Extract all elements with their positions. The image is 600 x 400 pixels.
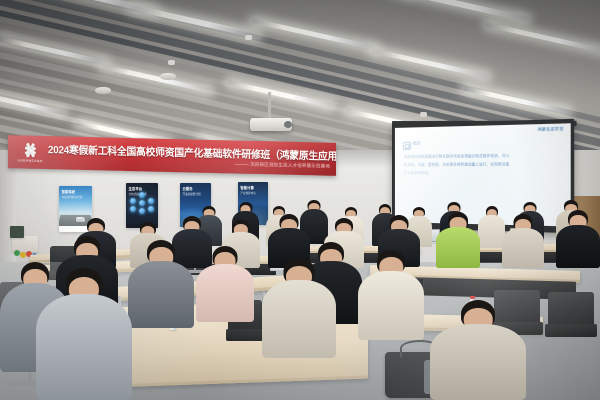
person-torso [478,215,505,248]
classroom-photo: 天府软件园实训基地 2024寒假新工科全国高校师资国产化基础软件研修班（鸿蒙原生… [0,0,600,400]
person-torso [196,264,254,322]
ceiling-led-strip [371,48,489,79]
left-wall [0,150,16,280]
ceiling-led-strip [485,22,600,54]
slide-line: 鸿蒙操作系统是面向万物互联时代的全场景分布式操作系统，可以 [404,153,510,159]
network-hex-icon [130,192,154,214]
ceiling-speaker-icon [95,87,111,94]
person-torso [36,294,132,400]
person [128,240,194,328]
ceiling-speaker-icon [160,73,176,80]
person-torso [556,225,600,268]
slide-bullet-icon [403,142,411,150]
person [358,250,424,340]
poster-line: 车路协同解决方案 [62,195,83,199]
person-torso [128,261,194,328]
person [502,214,544,268]
person [478,206,505,248]
slide-heading: 概述 [413,141,421,146]
ceiling-sensor-icon [420,112,427,117]
person-torso [358,271,424,340]
poster-title: 智能驾驶 [62,189,76,194]
poster-line: 产业创新中心 [240,191,256,195]
ceiling-sensor-icon [168,60,175,65]
person-torso [430,324,526,400]
slide-line: 的无缝协同体验。 [404,170,432,175]
ceiling-led-strip [251,18,377,51]
banner-emblem-icon: 天府软件园实训基地 [18,140,42,165]
chair[interactable] [548,292,594,350]
person [36,268,132,400]
projector-mount-pole [268,92,271,120]
wall-panel [10,226,24,238]
poster-line: 开发者赋能计划 [182,192,200,196]
slide-line: 在手机、平板、智慧屏、车机等多种终端设备上运行，实现跨设备 [404,161,510,167]
person [430,300,526,400]
poster-title: 云服务 [182,186,192,191]
person-torso [502,228,544,268]
banner-logo-caption: 天府软件园实训基地 [17,158,42,163]
person [196,246,254,322]
person-torso [436,227,480,268]
person-torso [262,280,336,358]
projector-lens-icon [284,121,292,128]
person [556,210,600,268]
ceiling-sensor-icon [245,35,252,40]
slide-brand-label: 鸿蒙生态学堂 [537,127,563,133]
poster-title: 智能计算 [240,185,254,190]
poster-title: 生态平台 [129,186,143,191]
person [436,212,480,268]
ceiling-led-strip [391,0,529,22]
person [262,258,336,358]
